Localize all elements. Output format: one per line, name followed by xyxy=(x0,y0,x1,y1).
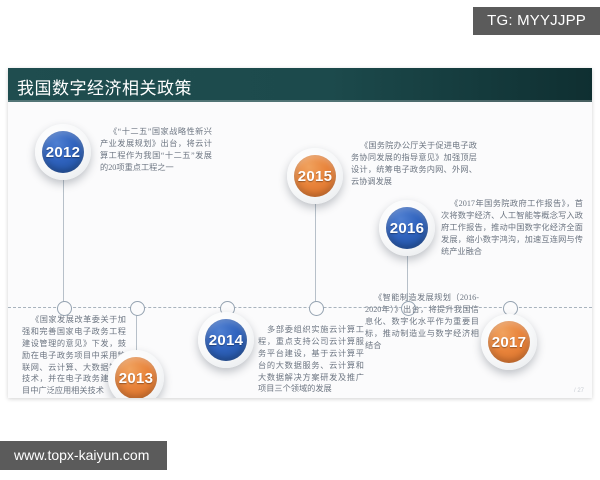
connector-stem-2012 xyxy=(63,180,64,302)
slide-card: 我国数字经济相关政策 2012 《“十二五”国家战略性新兴产业发展规划》出台，将… xyxy=(8,68,592,398)
timeline-bubble-2016-label: 2016 xyxy=(386,207,428,249)
timeline-bubble-2013-label: 2013 xyxy=(115,357,157,398)
timeline-bubble-2017[interactable]: 2017 xyxy=(481,314,537,370)
timeline-bubble-2015[interactable]: 2015 xyxy=(287,148,343,204)
slide-title-bar: 我国数字经济相关政策 xyxy=(8,68,592,102)
telegram-watermark-badge: TG: MYYJJPP xyxy=(473,7,600,35)
timeline-axis-node xyxy=(309,301,324,316)
timeline-note-2014: 多部委组织实施云计算工程，重点支持公司云计算服务平台建设，基于云计算平台的大数据… xyxy=(258,324,364,395)
timeline-note-2016: 《2017年国务院政府工作报告》，首次将数字经济、人工智能等概念写入政府工作报告… xyxy=(441,198,583,257)
timeline-bubble-2012[interactable]: 2012 xyxy=(35,124,91,180)
site-url-watermark: www.topx-kaiyun.com xyxy=(0,441,167,470)
page-title: 我国数字经济相关政策 xyxy=(17,74,192,99)
timeline-bubble-2013[interactable]: 2013 xyxy=(108,350,164,398)
timeline-canvas: 2012 《“十二五”国家战略性新兴产业发展规划》出台，将云计算工程作为我国“十… xyxy=(8,102,592,398)
connector-stem-2015 xyxy=(315,204,316,302)
timeline-note-2012: 《“十二五”国家战略性新兴产业发展规划》出台，将云计算工程作为我国“十二五”发展… xyxy=(100,126,212,174)
timeline-axis-node xyxy=(130,301,145,316)
timeline-bubble-2017-label: 2017 xyxy=(488,321,530,363)
timeline-bubble-2014[interactable]: 2014 xyxy=(198,312,254,368)
timeline-bubble-2014-label: 2014 xyxy=(205,319,247,361)
timeline-bubble-2012-label: 2012 xyxy=(42,131,84,173)
timeline-note-2017: 《智能制造发展规划（2016-2020年）》出台，将提升我国信息化、数字化水平作… xyxy=(365,292,479,351)
page-number: / 27 xyxy=(574,388,584,394)
timeline-note-2015: 《国务院办公厅关于促进电子政务协同发展的指导意见》加强顶层设计，统筹电子政务内网… xyxy=(351,140,477,188)
timeline-bubble-2016[interactable]: 2016 xyxy=(379,200,435,256)
timeline-bubble-2015-label: 2015 xyxy=(294,155,336,197)
